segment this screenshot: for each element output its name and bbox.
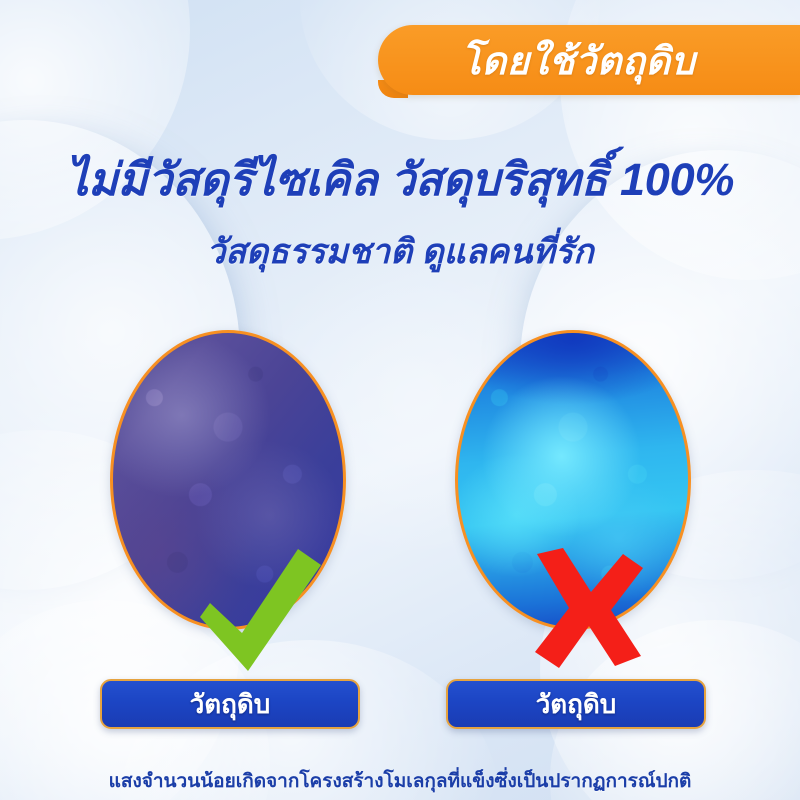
label-pill-left: วัตถุดิบ (100, 679, 360, 729)
label-pill-left-text: วัตถุดิบ (190, 684, 271, 725)
promo-poster: โดยใช้วัตถุดิบ ไม่มีวัสดุรีไซเคิล วัสดุบ… (0, 0, 800, 800)
headline-primary: ไม่มีวัสดุรีไซเคิล วัสดุบริสุทธิ์ 100% (0, 143, 800, 215)
comparison-item-left (110, 330, 346, 630)
check-mark-icon (190, 545, 330, 675)
label-pill-right-text: วัตถุดิบ (536, 684, 617, 725)
comparison-item-right (455, 330, 691, 630)
banner-label: โดยใช้วัตถุดิบ (461, 30, 718, 91)
footer-caption: แสงจำนวนน้อยเกิดจากโครงสร้างโมเลกุลที่แข… (0, 766, 800, 796)
label-pill-right: วัตถุดิบ (446, 679, 706, 729)
header-banner: โดยใช้วัตถุดิบ (378, 25, 800, 95)
headline-secondary: วัสดุธรรมชาติ ดูแลคนที่รัก (0, 224, 800, 278)
cross-mark-icon (519, 542, 659, 672)
